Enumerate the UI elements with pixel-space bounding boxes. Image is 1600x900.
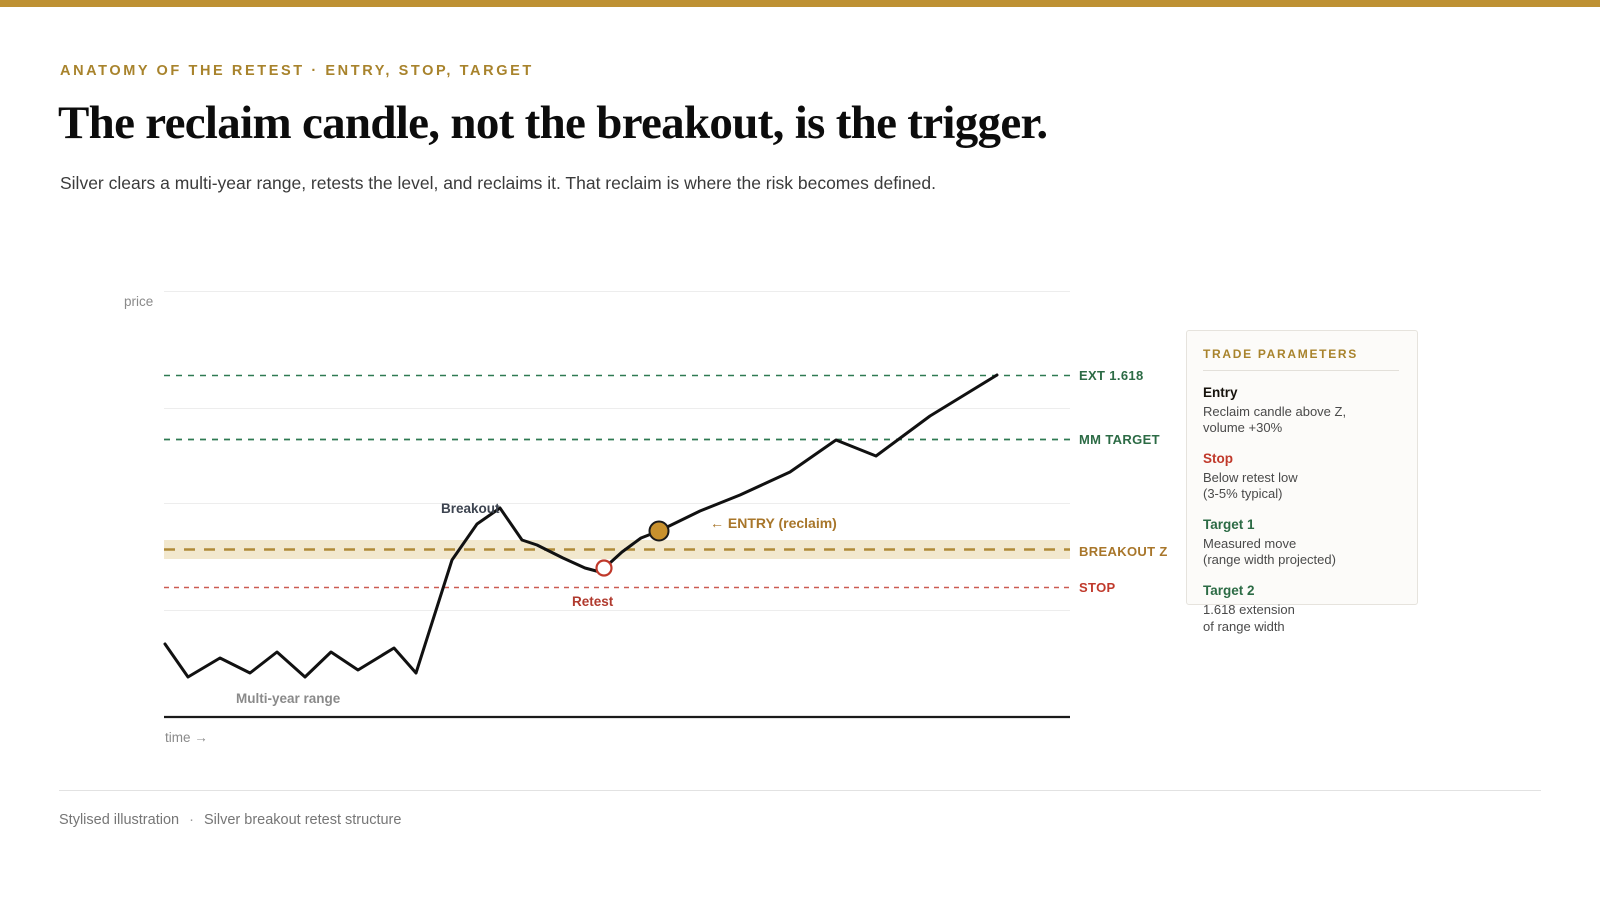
trade-parameters-panel: TRADE PARAMETERS Entry Reclaim candle ab…	[1186, 330, 1418, 605]
param-label-target-1: Target 1	[1203, 516, 1399, 534]
footer-caption-left: Stylised illustration	[59, 812, 179, 828]
param-row-target-1: Target 1 Measured move (range width proj…	[1203, 516, 1399, 569]
param-label-stop: Stop	[1203, 450, 1399, 468]
param-text-target-2-line2: of range width	[1203, 619, 1399, 636]
param-row-entry: Entry Reclaim candle above Z, volume +30…	[1203, 384, 1399, 437]
retest-marker	[597, 561, 612, 576]
price-line	[165, 375, 997, 677]
param-row-stop: Stop Below retest low (3-5% typical)	[1203, 450, 1399, 503]
chart-gridlines	[164, 292, 1070, 611]
panel-divider	[1203, 370, 1399, 371]
level-label-ext-1618: EXT 1.618	[1079, 368, 1144, 383]
page-title: The reclaim candle, not the breakout, is…	[58, 96, 1047, 150]
level-label-breakout-z: BREAKOUT Z	[1079, 544, 1168, 559]
param-label-entry: Entry	[1203, 384, 1399, 402]
x-axis-label: time →	[165, 730, 208, 745]
page-subtitle: Silver clears a multi-year range, retest…	[60, 173, 936, 194]
footer-caption: Stylised illustration · Silver breakout …	[59, 812, 401, 828]
panel-title: TRADE PARAMETERS	[1203, 347, 1399, 361]
footer-caption-separator: ·	[183, 812, 200, 828]
param-text-target-1-line1: Measured move	[1203, 536, 1399, 553]
level-label-stop: STOP	[1079, 580, 1116, 595]
param-text-entry-line1: Reclaim candle above Z,	[1203, 404, 1399, 421]
annotation-entry-reclaim: ← ENTRY (reclaim)	[710, 515, 837, 531]
param-text-entry-line2: volume +30%	[1203, 420, 1399, 437]
annotation-multi-year-range: Multi-year range	[236, 691, 340, 706]
page-root: ANATOMY OF THE RETEST · ENTRY, STOP, TAR…	[0, 0, 1600, 900]
accent-topbar	[0, 0, 1600, 7]
param-text-stop-line2: (3-5% typical)	[1203, 486, 1399, 503]
eyebrow-kicker: ANATOMY OF THE RETEST · ENTRY, STOP, TAR…	[60, 63, 534, 79]
param-label-target-2: Target 2	[1203, 582, 1399, 600]
level-label-mm-target: MM TARGET	[1079, 432, 1160, 447]
entry-marker	[650, 522, 669, 541]
annotation-breakout: Breakout	[441, 501, 500, 516]
param-text-target-1-line2: (range width projected)	[1203, 552, 1399, 569]
param-text-stop-line1: Below retest low	[1203, 470, 1399, 487]
param-text-target-2-line1: 1.618 extension	[1203, 602, 1399, 619]
param-row-target-2: Target 2 1.618 extension of range width	[1203, 582, 1399, 635]
footer-divider	[59, 790, 1541, 791]
y-axis-label: price	[124, 294, 153, 309]
footer-caption-right: Silver breakout retest structure	[204, 812, 401, 828]
annotation-retest: Retest	[572, 594, 613, 609]
breakout-zone-band	[164, 540, 1070, 559]
